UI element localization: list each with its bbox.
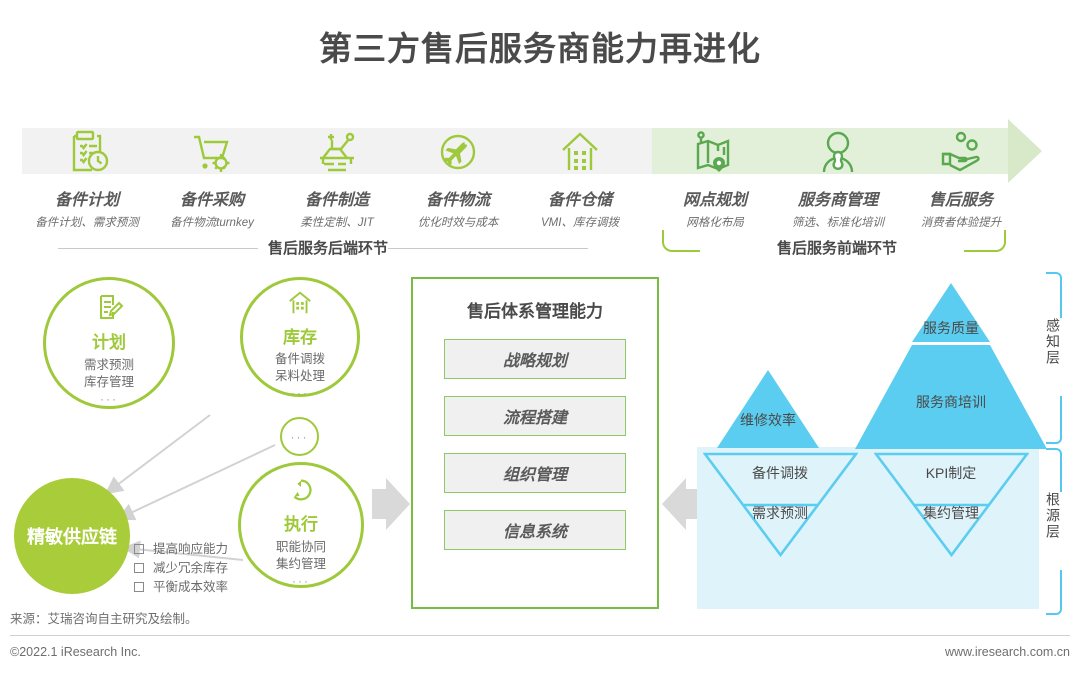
checkbox-square-icon	[134, 544, 144, 554]
triangle-label: 服务质量	[906, 318, 996, 338]
process-step-title: 备件采购	[147, 186, 277, 210]
bullet-label: 平衡成本效率	[153, 578, 228, 597]
supply-circle-line-2: 库存管理	[46, 374, 172, 391]
supply-circle-line-1: 备件调拨	[243, 351, 357, 368]
infographic-page: 第三方售后服务商能力再进化 备件计划 备件计划、需求预测	[0, 0, 1080, 676]
supply-circle-more[interactable]: ···	[280, 417, 319, 456]
process-columns: 备件计划 备件计划、需求预测 备件采购 备件物流turnkey	[0, 118, 1080, 236]
checkbox-square-icon	[134, 582, 144, 592]
process-step-title: 服务商管理	[773, 186, 903, 210]
process-step-sub: VMI、库存调拨	[515, 214, 645, 230]
supply-circle-more-dots: ···	[291, 431, 309, 443]
supply-circle-head: 库存	[243, 323, 357, 348]
process-step-4[interactable]: 备件物流 优化时效与成本	[393, 118, 523, 230]
source-note: 来源：艾瑞咨询自主研究及绘制。	[10, 608, 198, 627]
supply-circle-dots: ···	[243, 387, 357, 399]
supply-circle-line-2: 集约管理	[241, 556, 361, 573]
process-step-title: 备件物流	[393, 186, 523, 210]
supply-circle-inventory[interactable]: 库存 备件调拨 呆料处理 ···	[240, 277, 360, 397]
center-item-1[interactable]: 战略规划	[444, 339, 626, 379]
backend-section-label: 售后服务后端环节	[268, 237, 388, 258]
process-step-sub: 网格化布局	[650, 214, 780, 230]
process-step-title: 备件仓储	[515, 186, 645, 210]
center-item-4[interactable]: 信息系统	[444, 510, 626, 550]
process-step-8[interactable]: 售后服务 消费者体验提升	[896, 118, 1026, 230]
bullet-label: 提高响应能力	[153, 540, 228, 559]
triangle-label: KPI制定	[896, 463, 1006, 483]
triangle-repair-efficiency[interactable]	[717, 370, 819, 448]
center-item-2[interactable]: 流程搭建	[444, 396, 626, 436]
process-step-sub: 柔性定制、JIT	[272, 214, 402, 230]
root-layer-label: 根源层	[1046, 492, 1060, 540]
factory-robot-icon	[272, 118, 402, 180]
hand-service-icon	[896, 118, 1026, 180]
process-step-title: 备件计划	[22, 186, 152, 210]
supply-circle-line-1: 职能协同	[241, 539, 361, 556]
copyright-text: ©2022.1 iResearch Inc.	[10, 645, 141, 659]
cart-gear-icon	[147, 118, 277, 180]
process-step-sub: 优化时效与成本	[393, 214, 523, 230]
backend-rule-left	[58, 248, 258, 249]
process-step-sub: 消费者体验提升	[896, 214, 1026, 230]
process-step-5[interactable]: 备件仓储 VMI、库存调拨	[515, 118, 645, 230]
document-edit-icon	[46, 280, 172, 327]
page-title: 第三方售后服务商能力再进化	[0, 22, 1080, 70]
process-step-1[interactable]: 备件计划 备件计划、需求预测	[22, 118, 152, 230]
process-step-sub: 筛选、标准化培训	[773, 214, 903, 230]
process-step-title: 网点规划	[650, 186, 780, 210]
person-gear-icon	[773, 118, 903, 180]
warehouse-icon	[515, 118, 645, 180]
triangle-label: 维修效率	[723, 410, 813, 430]
footer-divider	[10, 635, 1070, 636]
process-step-2[interactable]: 备件采购 备件物流turnkey	[147, 118, 277, 230]
map-pin-icon	[650, 118, 780, 180]
process-step-3[interactable]: 备件制造 柔性定制、JIT	[272, 118, 402, 230]
supply-circle-dots: ···	[46, 393, 172, 405]
list-item: 平衡成本效率	[134, 578, 228, 597]
process-step-title: 备件制造	[272, 186, 402, 210]
supply-circle-line-1: 需求预测	[46, 357, 172, 374]
checkbox-square-icon	[134, 563, 144, 573]
warehouse-small-icon	[243, 280, 357, 322]
supply-circle-execute[interactable]: 执行 职能协同 集约管理 ···	[238, 462, 364, 588]
hub-label: 精敏供应链	[27, 523, 117, 549]
bullet-label: 减少冗余库存	[153, 559, 228, 578]
backend-rule-right	[388, 248, 588, 249]
center-capability-box: 售后体系管理能力 战略规划 流程搭建 组织管理 信息系统	[411, 277, 659, 609]
triangle-label: 服务商培训	[906, 392, 996, 412]
process-step-title: 售后服务	[896, 186, 1026, 210]
arrow-from-right	[662, 478, 686, 530]
refresh-cycle-icon	[241, 465, 361, 509]
supply-bullets: 提高响应能力 减少冗余库存 平衡成本效率	[134, 540, 228, 596]
frontend-section-label: 售后服务前端环节	[777, 237, 897, 258]
center-heading: 售后体系管理能力	[413, 279, 657, 322]
website-url: www.iresearch.com.cn	[945, 645, 1070, 659]
arrow-to-center	[386, 478, 410, 530]
supply-circle-dots: ···	[241, 575, 361, 587]
triangle-label: 需求预测	[725, 503, 835, 523]
supply-circle-plan[interactable]: 计划 需求预测 库存管理 ···	[43, 277, 175, 409]
supply-circle-head: 计划	[46, 328, 172, 353]
triangle-label: 集约管理	[896, 503, 1006, 523]
process-step-7[interactable]: 服务商管理 筛选、标准化培训	[773, 118, 903, 230]
process-step-sub: 备件物流turnkey	[147, 214, 277, 230]
supply-circle-head: 执行	[241, 510, 361, 535]
clipboard-clock-icon	[22, 118, 152, 180]
perception-layer-label: 感知层	[1046, 318, 1060, 366]
airplane-circle-icon	[393, 118, 523, 180]
center-item-3[interactable]: 组织管理	[444, 453, 626, 493]
list-item: 提高响应能力	[134, 540, 228, 559]
triangle-label: 备件调拨	[725, 463, 835, 483]
process-step-sub: 备件计划、需求预测	[22, 214, 152, 230]
list-item: 减少冗余库存	[134, 559, 228, 578]
agile-supply-chain-hub[interactable]: 精敏供应链	[14, 478, 130, 594]
process-step-6[interactable]: 网点规划 网格化布局	[650, 118, 780, 230]
supply-circle-line-2: 呆料处理	[243, 368, 357, 385]
